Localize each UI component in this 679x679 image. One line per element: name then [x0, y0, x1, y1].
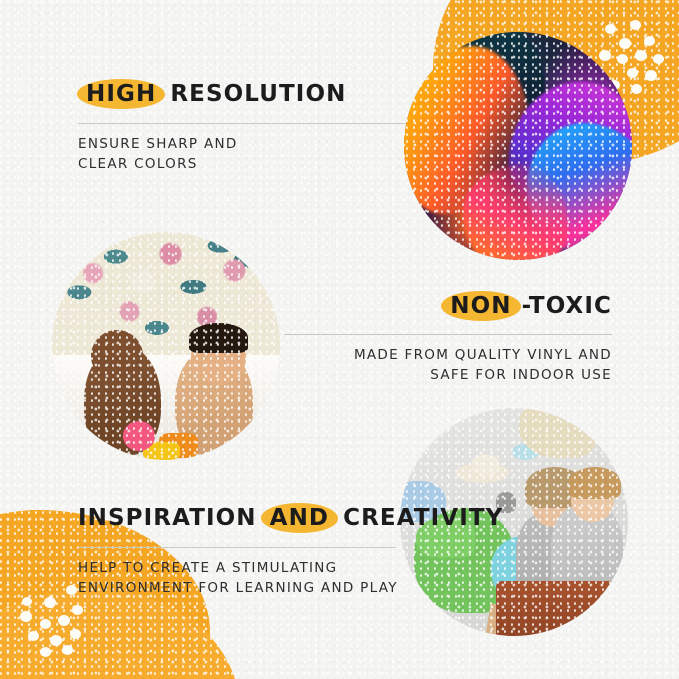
feature-heading-rest: CREATIVITY: [343, 505, 503, 531]
feature-heading-highlight: HIGH: [79, 80, 163, 109]
feature-divider-inspiration-creativity: [78, 547, 396, 548]
feature-heading-rest: -TOXIC: [522, 293, 612, 319]
feature-heading-non-toxic: NON-TOXIC: [442, 292, 612, 321]
feature-heading-highlight: AND: [263, 504, 336, 533]
feature-heading-high-resolution: HIGHRESOLUTION: [78, 80, 346, 109]
feature-image-non-toxic: [52, 232, 280, 460]
baby-right-hair: [189, 323, 248, 353]
toy-pink-ball: [123, 421, 155, 451]
feature-block-high-resolution: HIGHRESOLUTION ENSURE SHARP AND CLEAR CO…: [78, 80, 408, 175]
wooden-table: [496, 581, 628, 636]
feature-divider-high-resolution: [78, 123, 406, 124]
feature-block-inspiration-creativity: INSPIRATIONANDCREATIVITY HELP TO CREATE …: [78, 504, 408, 599]
feature-infographic-poster: HIGHRESOLUTION ENSURE SHARP AND CLEAR CO…: [0, 0, 679, 679]
child-front-hair: [569, 467, 621, 499]
feature-heading-inspiration-creativity: INSPIRATIONANDCREATIVITY: [78, 504, 503, 533]
feature-body-non-toxic: MADE FROM QUALITY VINYL AND SAFE FOR IND…: [284, 346, 612, 386]
feature-heading-rest: RESOLUTION: [170, 81, 346, 107]
feature-block-non-toxic: NON-TOXIC MADE FROM QUALITY VINYL AND SA…: [284, 292, 612, 386]
feature-body-high-resolution: ENSURE SHARP AND CLEAR COLORS: [78, 135, 408, 175]
feature-body-inspiration-creativity: HELP TO CREATE A STIMULATING ENVIRONMENT…: [78, 559, 408, 599]
feature-heading-highlight: NON: [443, 292, 518, 321]
feature-heading-pre: INSPIRATION: [78, 505, 257, 531]
abstract-orange-swirl: [463, 164, 568, 260]
feature-image-high-resolution: [404, 32, 632, 260]
feature-divider-non-toxic: [284, 334, 612, 335]
